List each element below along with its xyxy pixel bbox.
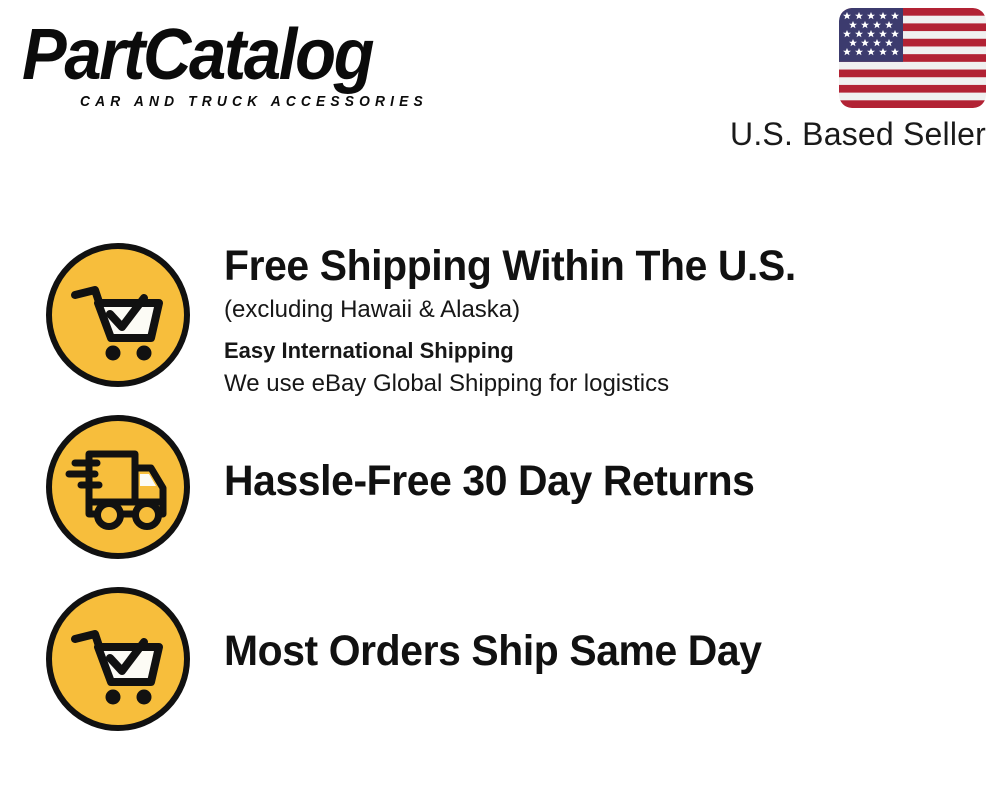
feature-row: Most Orders Ship Same Day — [0, 584, 1000, 756]
shopping-cart-check-icon — [43, 584, 193, 734]
feature-subline-international: Easy International Shipping — [224, 335, 1000, 367]
feature-text: Most Orders Ship Same Day — [193, 584, 1000, 676]
feature-text: Hassle-Free 30 Day Returns — [193, 412, 1000, 506]
feature-subline-logistics: We use eBay Global Shipping for logistic… — [224, 367, 1000, 401]
feature-list: Free Shipping Within The U.S. (excluding… — [0, 240, 1000, 756]
feature-row: Free Shipping Within The U.S. (excluding… — [0, 240, 1000, 412]
delivery-truck-icon — [43, 412, 193, 562]
us-based-seller-label: U.S. Based Seller — [686, 115, 986, 153]
feature-subline-exclusions: (excluding Hawaii & Alaska) — [224, 293, 1000, 327]
brand-logo: PartCatalog CAR AND TRUCK ACCESSORIES — [22, 18, 492, 118]
us-flag-icon — [839, 8, 986, 108]
feature-headline: Free Shipping Within The U.S. — [224, 241, 961, 291]
feature-text: Free Shipping Within The U.S. (excluding… — [193, 240, 1000, 401]
shopping-cart-check-icon — [43, 240, 193, 390]
us-based-seller-badge: U.S. Based Seller — [686, 8, 986, 153]
brand-wordmark: PartCatalog — [22, 18, 459, 92]
feature-row: Hassle-Free 30 Day Returns — [0, 412, 1000, 584]
feature-headline: Most Orders Ship Same Day — [224, 626, 961, 676]
brand-tagline: CAR AND TRUCK ACCESSORIES — [80, 93, 459, 110]
seller-banner: PartCatalog CAR AND TRUCK ACCESSORIES — [0, 0, 1000, 800]
feature-headline: Hassle-Free 30 Day Returns — [224, 456, 961, 506]
